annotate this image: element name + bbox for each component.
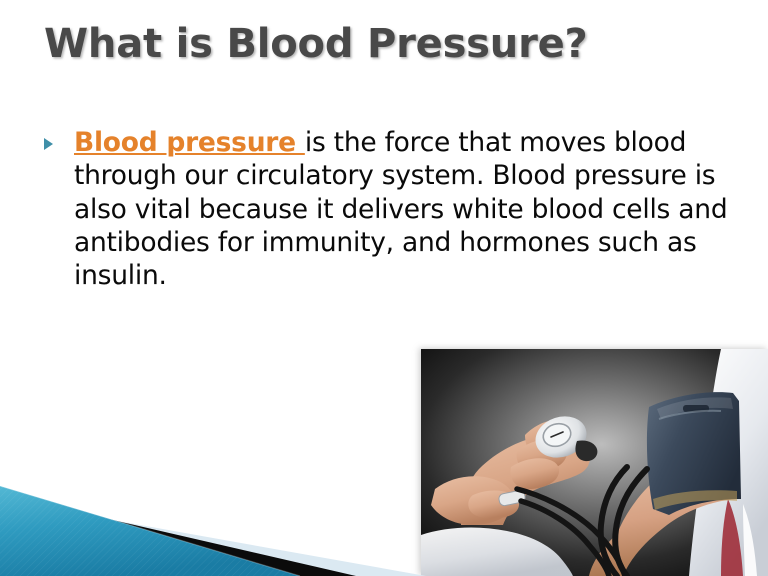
angled-banner-graphic <box>0 440 470 576</box>
corner-decoration <box>0 440 470 576</box>
photo-illustration <box>421 349 768 576</box>
triangle-bullet-icon <box>44 126 74 150</box>
blood-pressure-photo <box>421 349 768 576</box>
body-content: Blood pressure is the force that moves b… <box>44 126 734 292</box>
bullet-paragraph: Blood pressure is the force that moves b… <box>74 126 734 292</box>
list-item: Blood pressure is the force that moves b… <box>44 126 734 292</box>
slide-canvas: What is Blood Pressure? Blood pressure i… <box>0 0 768 576</box>
highlight-term: Blood pressure <box>74 127 305 158</box>
page-title: What is Blood Pressure? <box>44 22 734 66</box>
